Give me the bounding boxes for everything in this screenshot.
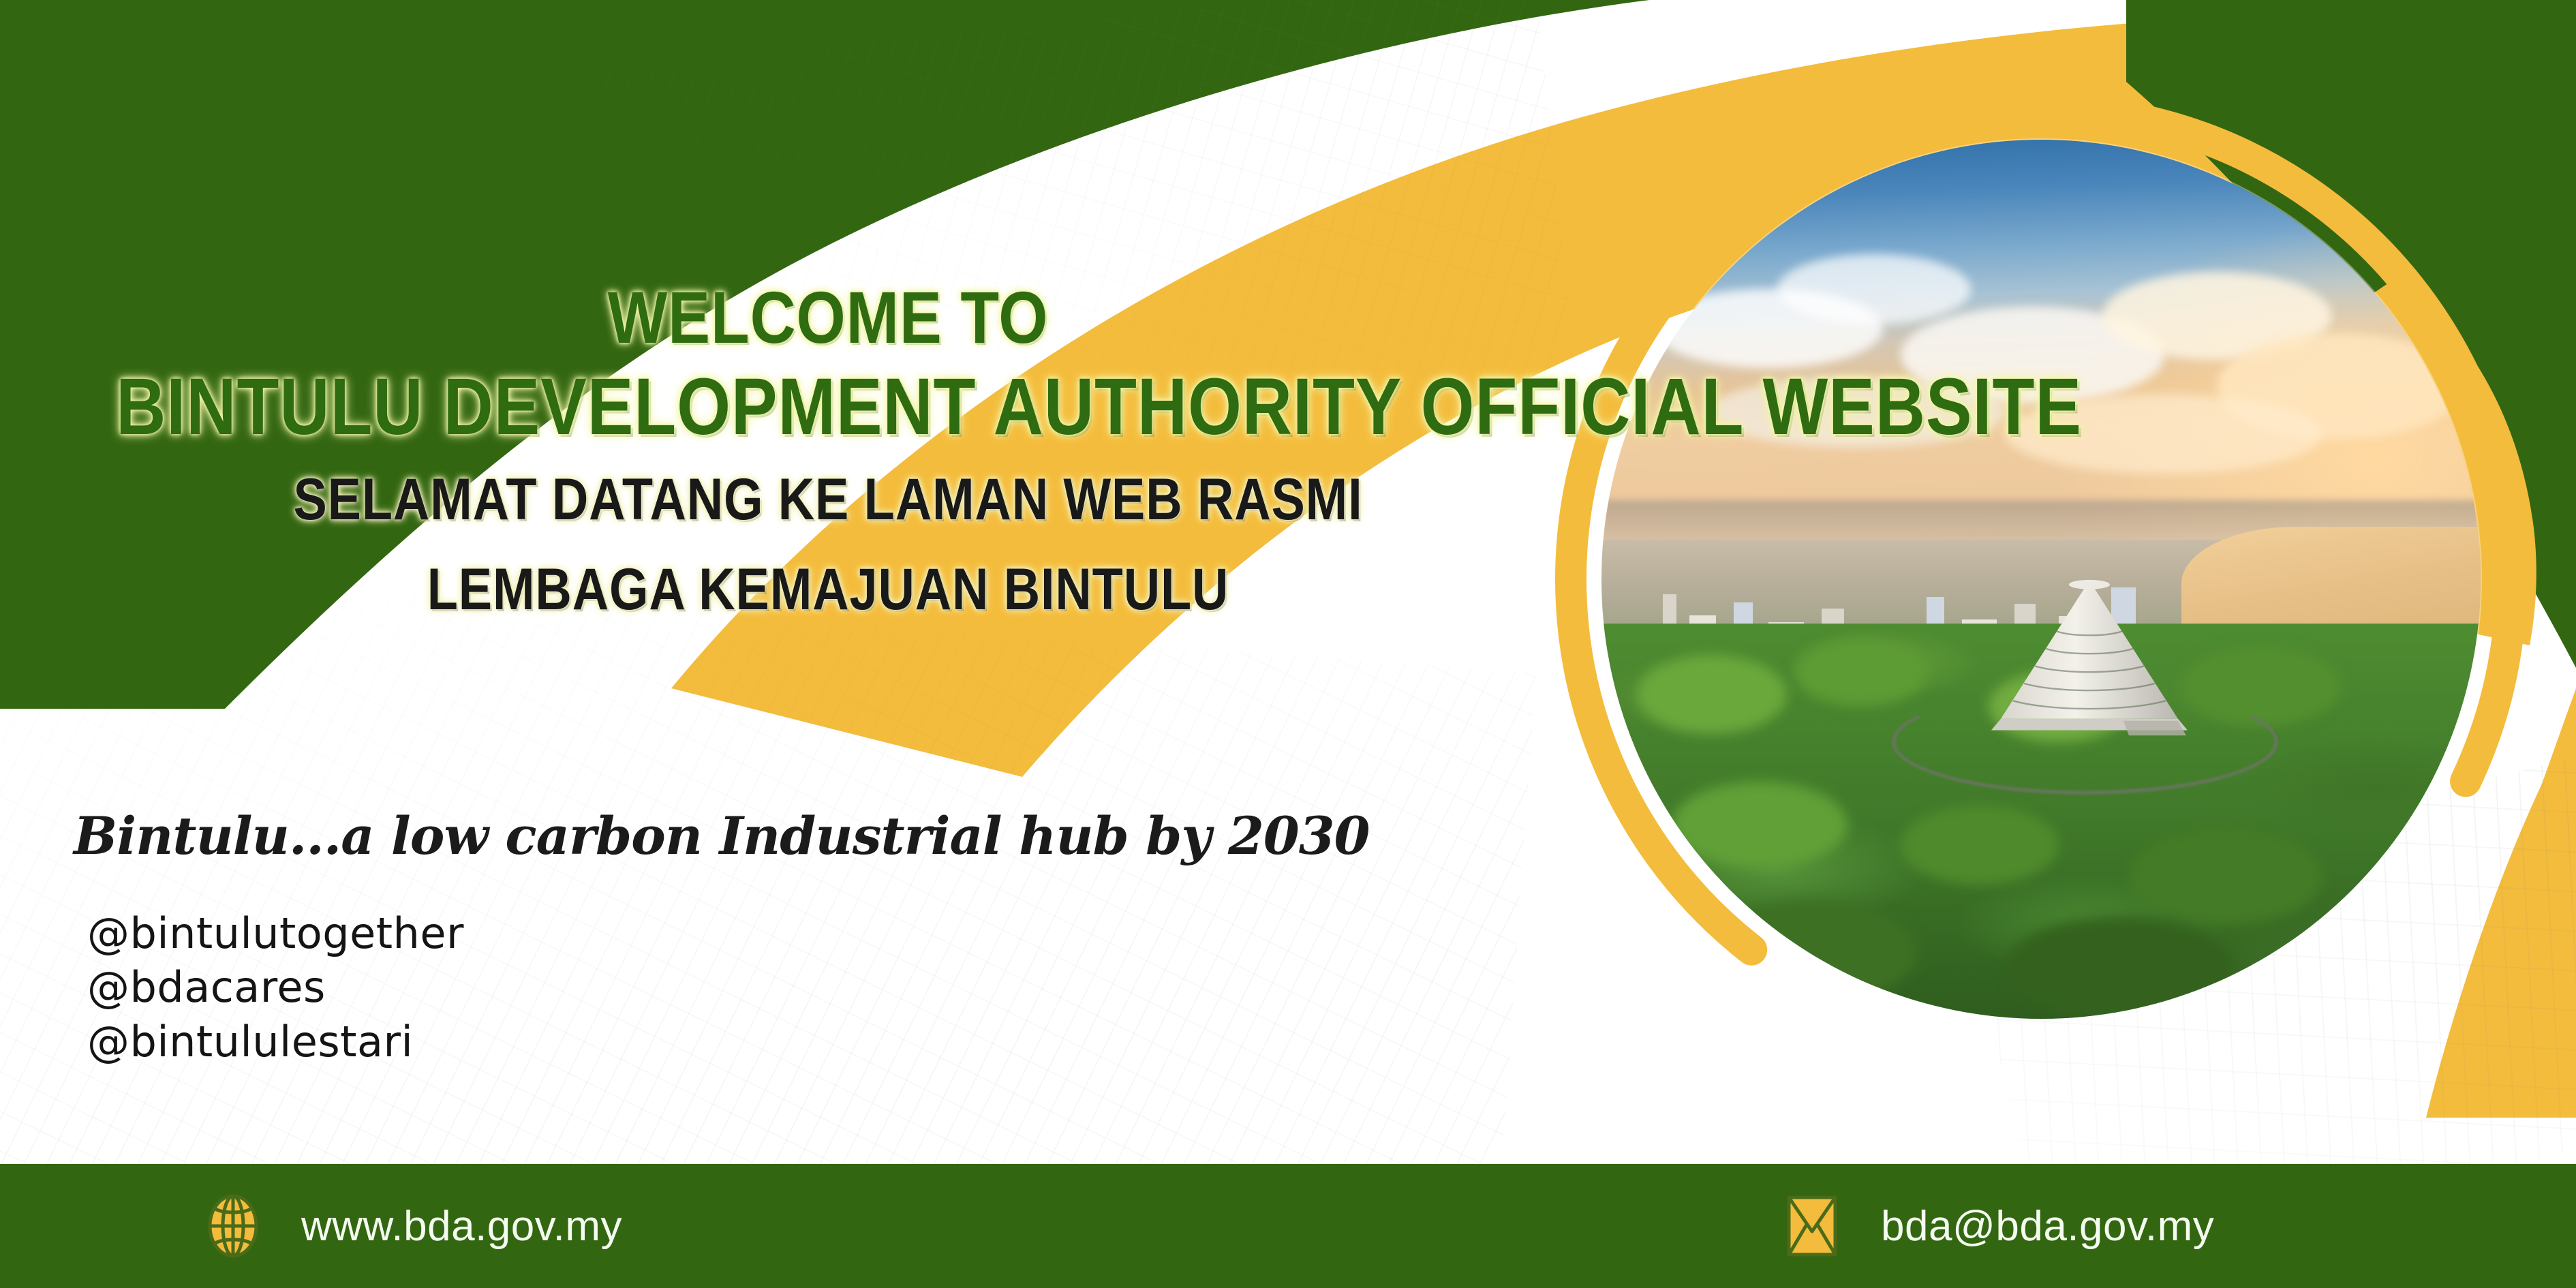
footer-bar: www.bda.gov.my bda@bda.gov.my bbox=[0, 1164, 2576, 1288]
footer-email-link[interactable]: bda@bda.gov.my bbox=[1785, 1192, 2214, 1260]
photo-medallion bbox=[1601, 140, 2481, 1019]
welcome-to-heading: WELCOME TO bbox=[116, 281, 1540, 354]
website-label: www.bda.gov.my bbox=[301, 1202, 622, 1251]
envelope-icon bbox=[1785, 1192, 1839, 1260]
social-handles-list: @bintulutogether @bdacares @bintululesta… bbox=[87, 906, 464, 1069]
social-handle: @bintululestari bbox=[87, 1015, 464, 1069]
globe-icon bbox=[204, 1192, 262, 1260]
footer-website-link[interactable]: www.bda.gov.my bbox=[204, 1192, 622, 1260]
headline-block: WELCOME TO BINTULU DEVELOPMENT AUTHORITY… bbox=[0, 281, 1656, 619]
email-label: bda@bda.gov.my bbox=[1881, 1202, 2214, 1251]
bda-welcome-banner: WELCOME TO BINTULU DEVELOPMENT AUTHORITY… bbox=[0, 0, 2576, 1288]
social-handle: @bdacares bbox=[87, 960, 464, 1014]
page-title: BINTULU DEVELOPMENT AUTHORITY OFFICIAL W… bbox=[116, 367, 1540, 447]
photo-conical-building bbox=[1953, 575, 2226, 742]
photo-cloud bbox=[1777, 254, 1971, 324]
tagline: Bintulu...a low carbon Industrial hub by… bbox=[74, 806, 1369, 866]
social-handle: @bintulutogether bbox=[87, 906, 464, 960]
bintulu-aerial-photo bbox=[1601, 140, 2481, 1019]
subtitle-malay-line-2: LEMBAGA KEMAJUAN BINTULU bbox=[116, 560, 1540, 619]
subtitle-malay-line-1: SELAMAT DATANG KE LAMAN WEB RASMI bbox=[116, 470, 1540, 529]
